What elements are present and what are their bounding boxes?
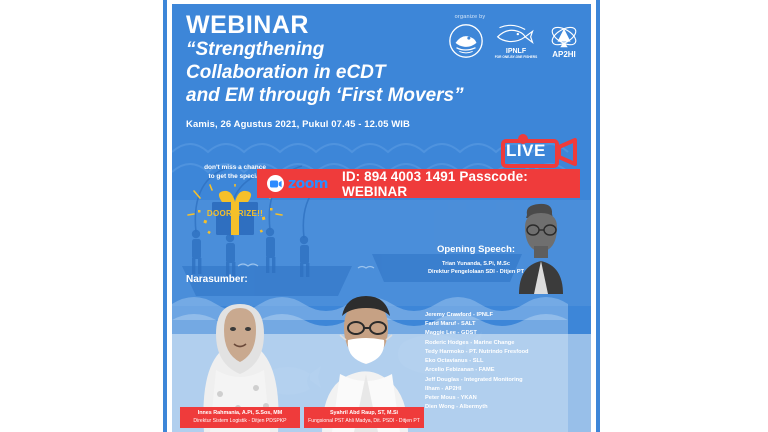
speaker-list-item: Tedy Harmoko - PT. Nutrindo Fresfood	[425, 348, 585, 357]
speaker-list-item: Peter Mous - YKAN	[425, 394, 585, 403]
speaker-list-item: Roderic Hodges - Marine Change	[425, 339, 585, 348]
speaker-list-item: Maggie Lee - GDST	[425, 329, 585, 338]
theme-line-3: and EM through ‘First Movers”	[186, 85, 436, 107]
ap2hi-logo	[547, 23, 581, 51]
webinar-datetime: Kamis, 26 Agustus 2021, Pukul 07.45 - 12…	[186, 119, 436, 130]
organizer-section: organize by IPNLF	[431, 14, 581, 60]
speaker-caption-syahril-abd-raup: Syahril Abd Raup, ST, M.Si Fungsional PS…	[304, 407, 424, 428]
live-badge: LIVE	[501, 134, 579, 168]
speaker-list-item: Farid Maruf - SALT	[425, 320, 585, 329]
zoom-meeting-details: ID: 894 4003 1491 Passcode: WEBINAR	[342, 169, 580, 199]
organizer-logo-row: IPNLF FOR ONE-BY-ONE FISHERS AP2HI	[431, 22, 581, 60]
speaker-list-item: Eko Octavianus - SLL	[425, 357, 585, 366]
live-label: LIVE	[506, 141, 546, 161]
speaker-list: Jeremy Crawford - IPNLF Farid Maruf - SA…	[425, 311, 585, 413]
ap2hi-logo-block: AP2HI	[547, 23, 581, 59]
speaker-caption-title: Direktur Sistem Logistik - Ditjen PDSPKP	[182, 418, 298, 425]
zoom-camera-icon	[267, 175, 284, 192]
theme-line-1: “Strengthening	[186, 39, 436, 61]
webinar-poster: WEBINAR “Strengthening Collaboration in …	[172, 4, 591, 432]
opening-speaker-photo	[505, 199, 577, 294]
doorprize-word: DOORPRIZE!!	[186, 209, 284, 218]
video-camera-glyph	[270, 180, 282, 188]
speaker-caption-title: Fungsional PST Ahli Madya, Dit. PSDI - D…	[306, 418, 422, 425]
speaker-list-item: Ilham - AP2HI	[425, 385, 585, 394]
ipnlf-logo-caption: IPNLF	[494, 48, 538, 55]
zoom-brand-label: zoom	[288, 176, 328, 192]
speaker-caption-name: Syahril Abd Raup, ST, M.Si	[306, 410, 422, 418]
ap2hi-logo-caption: AP2HI	[547, 51, 581, 59]
speaker-list-item: Dien Wong - Albermyth	[425, 403, 585, 412]
ipnlf-logo-block: IPNLF FOR ONE-BY-ONE FISHERS	[494, 22, 538, 59]
speaker-list-item: Jeff Douglas - Integrated Monitoring	[425, 376, 585, 385]
zoom-meeting-bar[interactable]: zoom ID: 894 4003 1491 Passcode: WEBINAR	[257, 169, 580, 198]
poster-canvas: WEBINAR “Strengthening Collaboration in …	[0, 0, 768, 432]
speaker-list-item: Jeremy Crawford - IPNLF	[425, 311, 585, 320]
theme-line-2: Collaboration in eCDT	[186, 62, 436, 84]
ipnlf-logo-subcaption: FOR ONE-BY-ONE FISHERS	[494, 56, 538, 59]
ipnlf-logo	[494, 22, 538, 48]
kkp-logo	[447, 22, 485, 60]
poster-header: WEBINAR “Strengthening Collaboration in …	[186, 12, 436, 130]
speaker-caption-innes-rahmania: Innes Rahmania, A.Pi, S.Sos, MM Direktur…	[180, 407, 300, 428]
organize-by-label: organize by	[359, 14, 581, 20]
speaker-caption-name: Innes Rahmania, A.Pi, S.Sos, MM	[182, 410, 298, 418]
speaker-list-item: Arcelio Febizanan - FAME	[425, 366, 585, 375]
